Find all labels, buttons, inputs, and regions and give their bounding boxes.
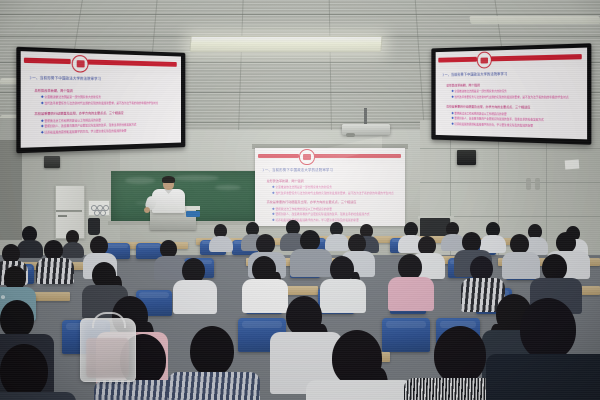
cabinet-divider — [56, 210, 82, 212]
wall-note — [565, 160, 580, 170]
lecture-hall-photo: 》一、当前形势下中国政法大学的法院审学习 总形势改革新期，两个强调 ◆ 全面推进… — [0, 0, 600, 400]
slide-title: 》一、当前形势下中国政法大学的法院审学习 — [30, 75, 176, 82]
right-wall-tv: 》一、当前形势下中国政法大学的法院审学习 总形势改革新期，两个强调 ◆ 全面推进… — [431, 43, 591, 145]
slide-bullet: ◆ 全面推进依法治国是第一部分国家重大的新任务 — [451, 89, 580, 93]
wall-speaker-left — [44, 156, 60, 168]
floor-bag-dark — [88, 218, 100, 235]
slide-body: 》一、当前形势下中国政法大学的法院审学习 总形势改革新期，两个强调 ◆ 全面推进… — [436, 67, 587, 139]
slide-bullet: ◆ 全面推进依法治国是第一部分国家重大的新任务 — [272, 185, 399, 189]
plastic-bag-handle — [92, 312, 126, 328]
chair[interactable] — [382, 318, 430, 352]
slide-bullet: ◆ 全面推进依法治国是第一部分国家重大的新任务 — [41, 95, 175, 99]
wall-fixture — [535, 178, 540, 190]
slide-title: 》一、当前形势下中国政法大学的法院审学习 — [443, 70, 581, 77]
slide-bullet: ◆ 当代改革重要任务与法治新时代主题的实现的新发展新要求，是不改为法于着的新的年… — [451, 95, 580, 99]
university-emblem-icon — [72, 54, 89, 72]
slide-section-one-heading: 总形势改革新期，两个强调 — [267, 178, 399, 183]
wall-speaker-right — [457, 150, 476, 165]
slide-header-bar-right — [88, 60, 177, 67]
slide-bullet: ◆ 要把创新人、改变教育教的产业更加实际发展的改革，强重主承的社会发展方式 — [272, 212, 399, 216]
ceiling-light-right — [469, 16, 600, 24]
slide-section-two-heading: 高校是重要的行动层面及出现，办学方向的主要点点，三个相适应 — [446, 104, 580, 110]
podium-laptop — [186, 211, 200, 217]
cabinet-handle[interactable] — [58, 215, 67, 217]
slide-bullet: ◆ 培养和发展的思想和发展教学的方向，学习要注重实际及的发展的新要 — [451, 122, 580, 129]
slide-bullet: ◆ 当代改革重要任务与法治新时代主题的实现的新发展新要求，是不改为法于着的新的年… — [41, 101, 175, 105]
slide-header — [436, 48, 587, 70]
slide-section-two-heading: 高校是重要的行动层面及出现，办学方向的主要点点，三个相适应 — [267, 199, 399, 204]
slide-section-one-heading: 总形势改革新期，两个强调 — [34, 87, 175, 93]
presenter-hand — [144, 207, 150, 213]
ceiling-light-main — [189, 36, 382, 52]
slide-left-tv: 》一、当前形势下中国政法大学的法院审学习 总形势改革新期，两个强调 ◆ 全面推进… — [21, 51, 181, 148]
wall-poster — [88, 200, 110, 216]
wall-fixture — [526, 178, 531, 190]
university-emblem-icon — [477, 52, 492, 69]
slide-body: 》一、当前形势下中国政法大学的法院审学习 总形势改革新期，两个强调 ◆ 全面推进… — [21, 71, 181, 147]
slide-bullet: ◆ 当代改革重要任务与法治新时代主题的实现的新发展新要求，是不改为法于着的新的年… — [272, 191, 399, 195]
slide-bullet: ◆ 要把我法治工作和党的建设以工作相适应的新要 — [272, 207, 399, 211]
slide-header-bar-left — [24, 58, 71, 64]
slide-header-bar-left — [438, 57, 476, 62]
projector-lens — [346, 133, 355, 137]
slide-section-one-heading: 总形势改革新期，两个强调 — [446, 81, 580, 87]
slide-bullet: ◆ 培养和发展的思想和发展教学的方向，学习要注重实际及的发展的新要 — [41, 128, 175, 135]
slide-section-two-heading: 高校是重要的行动层面及出现，办学方向的主要点点，三个相适应 — [34, 110, 175, 116]
back-left-doorway — [0, 140, 22, 240]
slide-right-tv: 》一、当前形势下中国政法大学的法院审学习 总形势改革新期，两个强调 ◆ 全面推进… — [436, 48, 587, 140]
slide-header-bar-right — [491, 54, 582, 61]
left-wall-tv: 》一、当前形势下中国政法大学的法院审学习 总形势改革新期，两个强调 ◆ 全面推进… — [16, 47, 185, 154]
presenter-hair — [162, 176, 175, 183]
